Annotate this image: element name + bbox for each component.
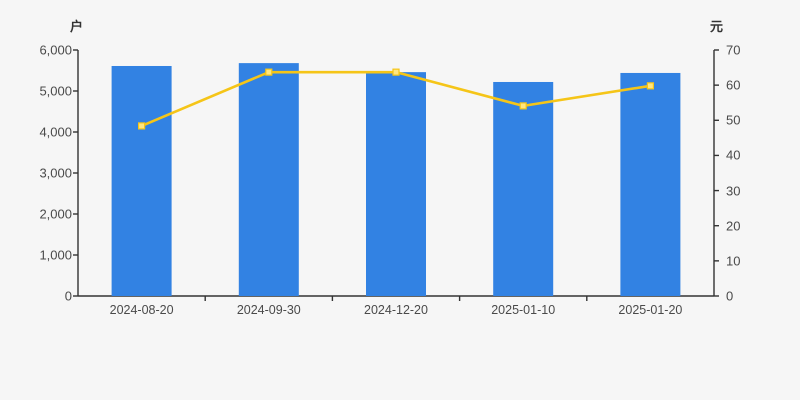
bar-2025-01-10[interactable] xyxy=(493,82,553,296)
plot-area xyxy=(0,0,800,400)
bar-2024-12-20[interactable] xyxy=(366,72,426,296)
bar-2024-08-20[interactable] xyxy=(112,66,172,296)
line-marker-2025-01-20[interactable] xyxy=(647,83,653,89)
line-marker-2024-08-20[interactable] xyxy=(139,123,145,129)
line-marker-2025-01-10[interactable] xyxy=(520,103,526,109)
line-marker-2024-09-30[interactable] xyxy=(266,69,272,75)
line-marker-2024-12-20[interactable] xyxy=(393,69,399,75)
bar-2024-09-30[interactable] xyxy=(239,63,299,296)
bar-2025-01-20[interactable] xyxy=(620,73,680,296)
chart-container: 户 元 01,0002,0003,0004,0005,0006,000 0102… xyxy=(0,0,800,400)
